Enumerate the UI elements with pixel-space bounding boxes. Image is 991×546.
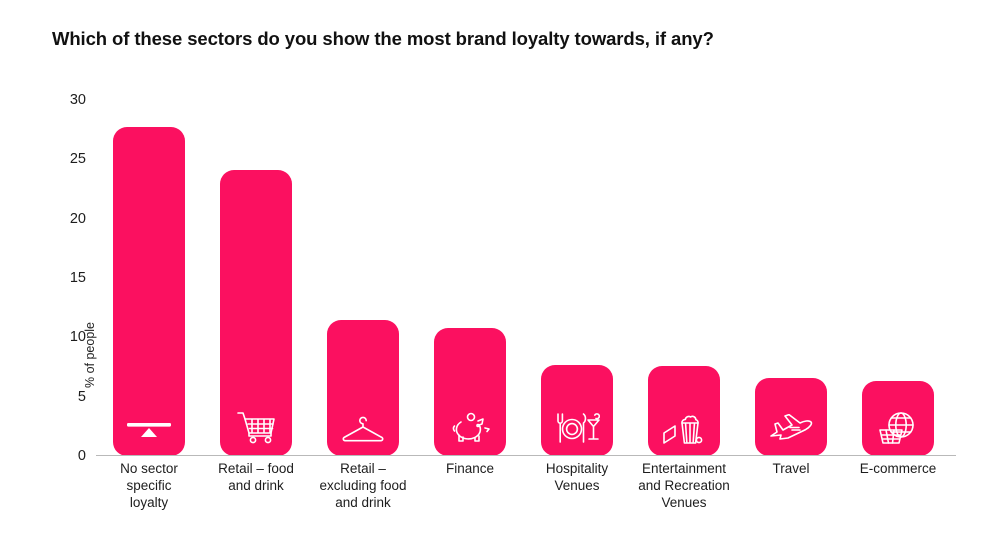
clothes-hanger-icon [339, 408, 387, 448]
x-axis-label: HospitalityVenues [518, 460, 636, 494]
bar[interactable] [220, 170, 292, 456]
x-axis-label: Entertainmentand RecreationVenues [625, 460, 743, 511]
x-axis-label: Retail –excluding foodand drink [304, 460, 422, 511]
globe-basket-icon [874, 408, 922, 448]
bar[interactable] [434, 328, 506, 456]
y-axis-tick: 15 [70, 271, 86, 286]
y-axis-tick: 0 [78, 449, 86, 464]
y-axis-tick: 20 [70, 211, 86, 226]
x-axis-label: E-commerce [839, 460, 957, 477]
bar[interactable] [648, 366, 720, 456]
balance-scale-icon [125, 408, 173, 448]
bar[interactable] [541, 365, 613, 456]
airplane-icon [767, 408, 815, 448]
y-axis-tick: 10 [70, 330, 86, 345]
chart-title: Which of these sectors do you show the m… [52, 28, 714, 50]
bar[interactable] [113, 127, 185, 456]
bar-chart: Which of these sectors do you show the m… [0, 0, 991, 546]
bar[interactable] [862, 381, 934, 456]
y-axis-tick: 5 [78, 389, 86, 404]
shopping-cart-icon [232, 408, 280, 448]
bar[interactable] [327, 320, 399, 456]
y-axis-tick: 25 [70, 152, 86, 167]
x-axis-label: No sectorspecificloyalty [90, 460, 208, 511]
x-axis-label: Retail – foodand drink [197, 460, 315, 494]
popcorn-tickets-icon [660, 408, 708, 448]
x-axis-labels: No sectorspecificloyaltyRetail – foodand… [96, 460, 956, 540]
piggy-bank-icon [446, 408, 494, 448]
y-axis-tick: 30 [70, 93, 86, 108]
x-axis-line [96, 455, 956, 456]
bar[interactable] [755, 378, 827, 456]
plot-area: % of people 302520151050 [96, 100, 956, 456]
dining-cocktail-icon [553, 408, 601, 448]
x-axis-label: Finance [411, 460, 529, 477]
bars-layer [96, 100, 956, 456]
x-axis-label: Travel [732, 460, 850, 477]
